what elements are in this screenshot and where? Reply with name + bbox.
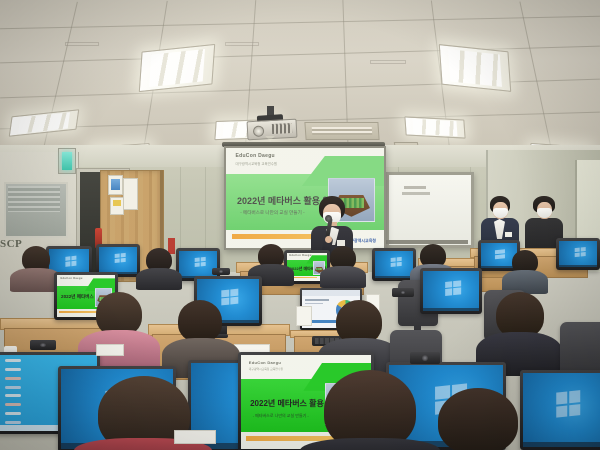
notice-poster	[123, 178, 138, 210]
monitor-far-6	[556, 238, 600, 270]
whiteboard	[386, 172, 474, 248]
desk-label	[96, 344, 124, 356]
projection-screen: EduCon Daegu 대구광역시교육청 교육연수원 2022년 메타버스 활…	[224, 146, 386, 250]
attendee-shoulders	[320, 266, 366, 288]
webcam	[392, 288, 414, 297]
ceiling-light	[9, 109, 79, 137]
desk-label	[174, 430, 216, 444]
slide-subheader: 대구광역시교육청 교육연수원	[235, 161, 277, 166]
slide-header: EduCon Daegu	[235, 153, 274, 159]
classroom-photo: SCP EduCon Daegu 대구광역시교육청 교육연수원 2022년 메타…	[0, 0, 600, 450]
monitor-front-5	[520, 370, 600, 450]
window-blind	[8, 186, 60, 212]
whiteboard-marking	[404, 186, 426, 189]
attendee-head-front	[438, 388, 518, 450]
desktop-icon-column[interactable]	[5, 359, 21, 424]
presentation-slide: EduCon Daegu 대구광역시교육청 교육연수원 2022년 메타버스 활…	[226, 148, 384, 248]
slide-description: - 메타버스로 나만의 교실 만들기 -	[253, 413, 309, 419]
slide-description: - 메타버스로 나만의 교실 만들기 -	[240, 210, 304, 216]
webcam	[212, 268, 230, 275]
whiteboard-marking	[402, 192, 430, 195]
notice-poster	[108, 175, 123, 195]
webcam	[30, 340, 56, 350]
slide-header: EduCon Daegu	[249, 360, 281, 365]
slide-subheader: 대구광역시교육청 교육연수원	[249, 367, 283, 371]
emergency-exit-sign	[58, 148, 76, 174]
webcam	[410, 352, 440, 364]
attendee-shoulders	[136, 268, 182, 290]
slide-header: EduCon Daegu	[289, 254, 311, 257]
desk-note	[296, 306, 312, 326]
ceiling-light	[404, 116, 465, 138]
name-badge	[505, 232, 512, 237]
notice-poster	[110, 197, 124, 215]
projector-lens	[253, 125, 265, 137]
attendee-head	[178, 300, 222, 342]
slide-header: EduCon Daegu	[60, 277, 82, 280]
ceiling-projector	[243, 106, 297, 140]
ceiling-light	[139, 44, 215, 92]
air-vent	[304, 122, 379, 140]
ceiling	[0, 0, 600, 150]
whiteboard-tray	[386, 240, 468, 244]
ceiling-light	[439, 44, 511, 92]
monitor-mid-3	[420, 268, 482, 314]
